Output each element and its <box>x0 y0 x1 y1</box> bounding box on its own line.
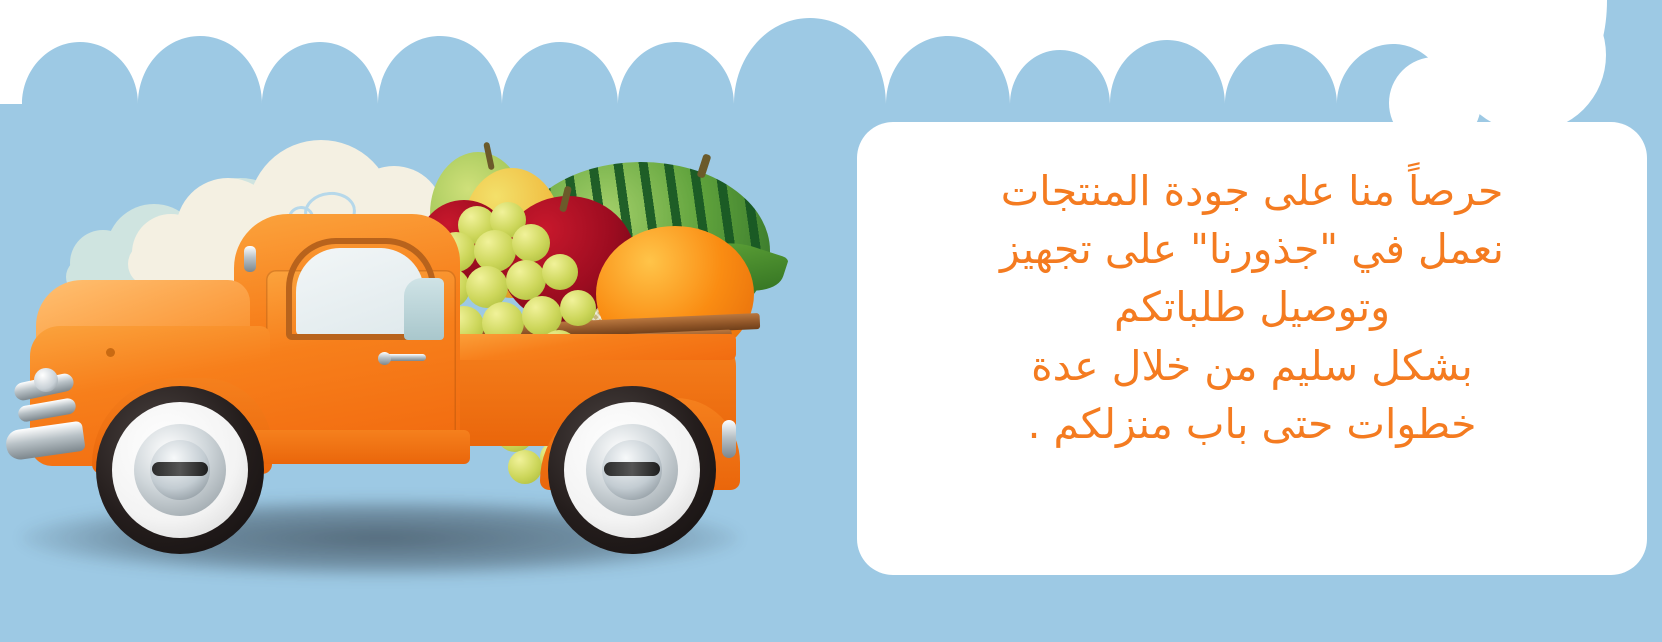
message-card-text: حرصاً منا على جودة المنتجات نعمل في "جذو… <box>881 162 1623 535</box>
door-handle-base <box>378 352 391 365</box>
promo-banner: حرصاً منا على جودة المنتجات نعمل في "جذو… <box>0 0 1662 642</box>
tail-light <box>722 420 736 458</box>
grape <box>542 254 578 290</box>
grape <box>512 224 550 262</box>
orange-pickup-truck <box>0 130 790 600</box>
grape <box>560 290 596 326</box>
grape <box>506 260 546 300</box>
hood-dot <box>106 348 115 357</box>
message-card: حرصاً منا على جودة المنتجات نعمل في "جذو… <box>857 122 1647 575</box>
front-wheel-spinner <box>152 462 208 476</box>
truck-bed-wall-top <box>436 334 736 360</box>
headlight <box>34 368 58 392</box>
grape <box>474 230 516 272</box>
truck-running-board <box>234 430 470 464</box>
cab-seat <box>404 278 444 340</box>
side-mirror <box>244 246 256 272</box>
grape <box>508 450 542 484</box>
rear-wheel-spinner <box>604 462 660 476</box>
